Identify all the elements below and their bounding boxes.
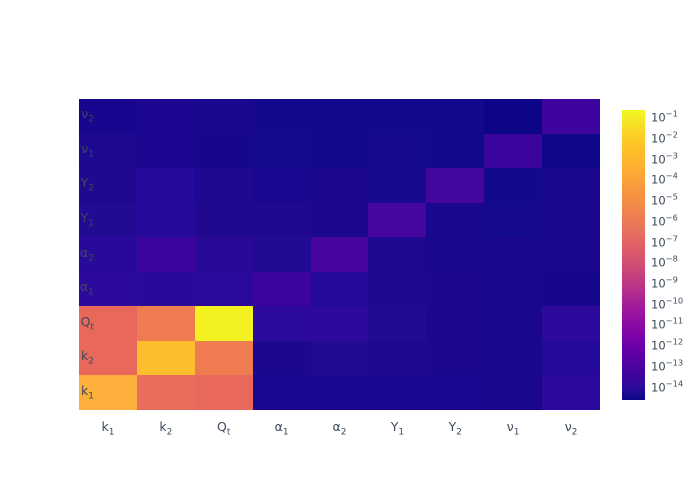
- heatmap-cell[interactable]: [368, 237, 426, 272]
- heatmap-cell[interactable]: [253, 306, 311, 341]
- y-tick-subscript: 2: [88, 115, 94, 125]
- x-tick-subscript: 1: [283, 428, 289, 438]
- heatmap-cell[interactable]: [484, 134, 542, 169]
- y-tick-subscript: 1: [88, 149, 94, 159]
- colorbar-tick-mantissa: 10: [651, 111, 666, 125]
- colorbar-tick-exponent: −7: [666, 233, 678, 243]
- colorbar-tick-mantissa: 10: [651, 193, 666, 207]
- y-tick-subscript: t: [90, 322, 94, 332]
- x-tick-subscript: 1: [398, 428, 404, 438]
- colorbar[interactable]: [622, 110, 645, 400]
- colorbar-tick-mantissa: 10: [651, 131, 666, 145]
- heatmap-cell[interactable]: [542, 237, 600, 272]
- heatmap-cell[interactable]: [311, 168, 369, 203]
- y-axis-tick-label: α2: [34, 246, 94, 263]
- heatmap-cell[interactable]: [484, 341, 542, 376]
- heatmap-cell[interactable]: [311, 341, 369, 376]
- heatmap-cell[interactable]: [484, 99, 542, 134]
- heatmap-cell[interactable]: [195, 203, 253, 238]
- y-tick-subscript: 2: [88, 184, 94, 194]
- heatmap-cell-grid: [79, 99, 600, 410]
- colorbar-tick-label: 10−13: [651, 361, 683, 373]
- heatmap-cell[interactable]: [253, 99, 311, 134]
- heatmap-cell[interactable]: [195, 134, 253, 169]
- colorbar-tick-exponent: −3: [666, 150, 678, 160]
- heatmap-cell[interactable]: [426, 168, 484, 203]
- x-tick-base: α: [275, 419, 283, 434]
- colorbar-tick-label: 10−4: [651, 175, 678, 187]
- colorbar-tick-label: 10−8: [651, 258, 678, 270]
- colorbar-tick-label: 10−14: [651, 382, 683, 394]
- y-axis-tick-label: k1: [34, 384, 94, 401]
- colorbar-tick-exponent: −14: [666, 378, 683, 388]
- y-tick-subscript: 2: [88, 356, 94, 366]
- heatmap-cell[interactable]: [484, 237, 542, 272]
- heatmap-cell[interactable]: [426, 272, 484, 307]
- x-tick-base: ν: [507, 419, 514, 434]
- heatmap-cell[interactable]: [311, 237, 369, 272]
- colorbar-tick-exponent: −11: [666, 316, 683, 326]
- colorbar-tick-exponent: −9: [666, 274, 678, 284]
- colorbar-tick-label: 10−7: [651, 237, 678, 249]
- x-tick-subscript: 1: [109, 428, 115, 438]
- colorbar-tick-mantissa: 10: [651, 173, 666, 187]
- colorbar-tick-exponent: −1: [666, 109, 678, 119]
- y-axis-tick-label: ν1: [34, 143, 94, 160]
- heatmap-cell[interactable]: [311, 375, 369, 410]
- y-tick-subscript: 1: [88, 218, 94, 228]
- colorbar-gradient: [622, 110, 645, 400]
- heatmap-cell[interactable]: [137, 237, 195, 272]
- y-tick-subscript: 1: [88, 287, 94, 297]
- y-axis-tick-label: Qt: [34, 315, 94, 332]
- heatmap-cell[interactable]: [426, 203, 484, 238]
- heatmap-cell[interactable]: [195, 306, 253, 341]
- heatmap-cell[interactable]: [542, 272, 600, 307]
- heatmap-cell[interactable]: [311, 134, 369, 169]
- colorbar-tick-exponent: −4: [666, 171, 678, 181]
- heatmap-cell[interactable]: [542, 203, 600, 238]
- colorbar-tick-label: 10−2: [651, 133, 678, 145]
- y-axis-tick-label: Y2: [34, 177, 94, 194]
- x-axis-tick-label: ν2: [536, 421, 606, 438]
- colorbar-tick-mantissa: 10: [651, 256, 666, 270]
- heatmap-cell[interactable]: [195, 272, 253, 307]
- colorbar-tick-mantissa: 10: [651, 297, 666, 311]
- x-tick-base: k: [159, 419, 166, 434]
- y-tick-subscript: 1: [88, 391, 94, 401]
- heatmap-cell[interactable]: [368, 341, 426, 376]
- colorbar-tick-mantissa: 10: [651, 380, 666, 394]
- heatmap-cell[interactable]: [484, 306, 542, 341]
- heatmap-cell[interactable]: [542, 168, 600, 203]
- heatmap-cell[interactable]: [253, 375, 311, 410]
- heatmap-cell[interactable]: [484, 168, 542, 203]
- heatmap-cell[interactable]: [542, 375, 600, 410]
- colorbar-tick-exponent: −8: [666, 254, 678, 264]
- heatmap-cell[interactable]: [542, 306, 600, 341]
- heatmap-cell[interactable]: [426, 134, 484, 169]
- colorbar-tick-label: 10−11: [651, 320, 683, 332]
- colorbar-tick-mantissa: 10: [651, 318, 666, 332]
- heatmap-cell[interactable]: [137, 375, 195, 410]
- y-tick-base: Q: [81, 313, 91, 328]
- colorbar-tick-exponent: −12: [666, 337, 683, 347]
- colorbar-tick-exponent: −13: [666, 357, 683, 367]
- y-axis-tick-label: ν2: [34, 108, 94, 125]
- heatmap-cell[interactable]: [137, 306, 195, 341]
- heatmap-cell[interactable]: [311, 306, 369, 341]
- y-axis-tick-label: Y1: [34, 212, 94, 229]
- heatmap-cell[interactable]: [368, 272, 426, 307]
- heatmap-cell[interactable]: [253, 203, 311, 238]
- colorbar-tick-exponent: −6: [666, 212, 678, 222]
- heatmap-plot-area[interactable]: [79, 99, 600, 410]
- heatmap-cell[interactable]: [484, 272, 542, 307]
- heatmap-cell[interactable]: [253, 168, 311, 203]
- heatmap-cell[interactable]: [311, 203, 369, 238]
- colorbar-tick-label: 10−6: [651, 216, 678, 228]
- heatmap-cell[interactable]: [311, 99, 369, 134]
- x-tick-subscript: 2: [167, 428, 173, 438]
- colorbar-tick-exponent: −10: [666, 295, 683, 305]
- heatmap-cell[interactable]: [253, 134, 311, 169]
- colorbar-tick-mantissa: 10: [651, 276, 666, 290]
- y-axis-tick-label: α1: [34, 281, 94, 298]
- heatmap-cell[interactable]: [311, 272, 369, 307]
- heatmap-cell[interactable]: [137, 272, 195, 307]
- heatmap-cell[interactable]: [368, 99, 426, 134]
- heatmap-cell[interactable]: [368, 134, 426, 169]
- heatmap-cell[interactable]: [426, 99, 484, 134]
- heatmap-cell[interactable]: [137, 99, 195, 134]
- heatmap-cell[interactable]: [253, 272, 311, 307]
- x-tick-base: α: [333, 419, 341, 434]
- colorbar-tick-label: 10−5: [651, 195, 678, 207]
- heatmap-cell[interactable]: [542, 134, 600, 169]
- heatmap-figure: ν2ν1Y2Y1α2α1Qtk2k1 k1k2Qtα1α2Y1Y2ν1ν2 10…: [0, 0, 700, 500]
- colorbar-tick-label: 10−12: [651, 340, 683, 352]
- heatmap-cell[interactable]: [426, 375, 484, 410]
- heatmap-cell[interactable]: [426, 306, 484, 341]
- heatmap-cell[interactable]: [195, 168, 253, 203]
- x-tick-subscript: 2: [341, 428, 347, 438]
- heatmap-cell[interactable]: [484, 203, 542, 238]
- colorbar-tick-exponent: −2: [666, 129, 678, 139]
- x-tick-base: Y: [391, 419, 399, 434]
- x-tick-base: Y: [449, 419, 457, 434]
- colorbar-tick-label: 10−9: [651, 278, 678, 290]
- colorbar-tick-mantissa: 10: [651, 152, 666, 166]
- heatmap-cell[interactable]: [195, 237, 253, 272]
- heatmap-cell[interactable]: [137, 134, 195, 169]
- x-tick-subscript: 1: [514, 428, 520, 438]
- heatmap-cell[interactable]: [137, 203, 195, 238]
- colorbar-tick-mantissa: 10: [651, 235, 666, 249]
- heatmap-cell[interactable]: [368, 168, 426, 203]
- heatmap-cell[interactable]: [195, 341, 253, 376]
- heatmap-cell[interactable]: [426, 237, 484, 272]
- colorbar-tick-label: 10−3: [651, 154, 678, 166]
- heatmap-cell[interactable]: [253, 341, 311, 376]
- colorbar-tick-mantissa: 10: [651, 214, 666, 228]
- x-tick-subscript: 2: [572, 428, 578, 438]
- heatmap-cell[interactable]: [137, 341, 195, 376]
- heatmap-cell[interactable]: [368, 306, 426, 341]
- heatmap-cell[interactable]: [426, 341, 484, 376]
- x-tick-base: ν: [565, 419, 572, 434]
- x-tick-base: Q: [217, 419, 227, 434]
- heatmap-cell[interactable]: [484, 375, 542, 410]
- heatmap-cell[interactable]: [195, 99, 253, 134]
- heatmap-cell[interactable]: [542, 99, 600, 134]
- colorbar-tick-label: 10−1: [651, 113, 678, 125]
- heatmap-cell[interactable]: [253, 237, 311, 272]
- y-axis-tick-label: k2: [34, 350, 94, 367]
- y-tick-subscript: 2: [88, 253, 94, 263]
- heatmap-cell[interactable]: [368, 375, 426, 410]
- heatmap-cell[interactable]: [368, 203, 426, 238]
- x-tick-subscript: 2: [456, 428, 462, 438]
- x-tick-base: k: [101, 419, 108, 434]
- x-tick-subscript: t: [227, 428, 231, 438]
- heatmap-cell[interactable]: [137, 168, 195, 203]
- heatmap-cell[interactable]: [542, 341, 600, 376]
- colorbar-tick-mantissa: 10: [651, 359, 666, 373]
- colorbar-tick-exponent: −5: [666, 192, 678, 202]
- colorbar-tick-mantissa: 10: [651, 338, 666, 352]
- heatmap-cell[interactable]: [195, 375, 253, 410]
- colorbar-tick-label: 10−10: [651, 299, 683, 311]
